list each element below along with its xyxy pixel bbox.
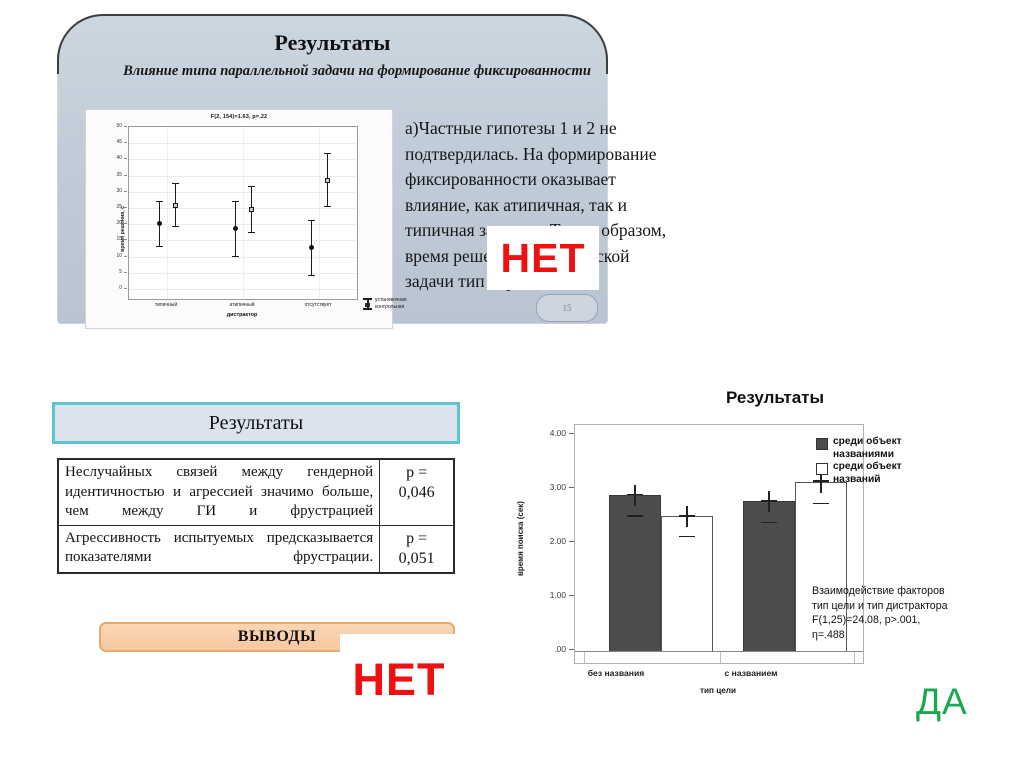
results-table: Неслучайных связей между гендерной идент… <box>57 458 455 574</box>
net-overlay-middle: НЕТ <box>340 634 458 706</box>
slide-top-subtitle: Влияние типа параллельной задачи на форм… <box>122 62 592 81</box>
br-stats-annotation: Взаимодействие факторов тип цели и тип д… <box>812 584 982 642</box>
top-chart-xtick: типичный <box>138 302 194 308</box>
top-chart-panel: F(2, 154)=1.63, p=.22 время решения, с 5… <box>86 110 392 328</box>
br-stats-line3: F(1,25)=24.08, p>.001, <box>812 613 982 628</box>
table-cell-text: Неслучайных связей между гендерной идент… <box>58 459 380 525</box>
vyvody-button-label: ВЫВОДЫ <box>238 628 316 646</box>
br-chart-legend: среди объект названиями среди объект наз… <box>816 437 936 487</box>
top-chart-ytick: 40 <box>102 155 122 161</box>
data-point <box>325 178 330 183</box>
bar-dark-1 <box>609 495 661 652</box>
top-chart-ytick: 35 <box>102 172 122 178</box>
top-chart-ytick: 25 <box>102 204 122 210</box>
top-chart-ytick: 5 <box>102 269 122 275</box>
data-point <box>309 245 314 250</box>
data-point <box>249 207 254 212</box>
slide-bottom-right: Результаты Диаграмма 1. Время поиска цел… <box>530 388 970 698</box>
legend-item: среди объект названиями <box>816 437 936 462</box>
data-point <box>157 221 162 226</box>
br-chart-ytick: 3.00 <box>536 482 566 492</box>
slide-mid-header-box: Результаты <box>52 402 460 444</box>
br-chart-ytick: 1.00 <box>536 590 566 600</box>
top-chart-ytick: 20 <box>102 220 122 226</box>
slide-collage-canvas: Результаты Влияние типа параллельной зад… <box>0 0 1024 767</box>
top-chart-xtick: отсутствует <box>290 302 346 308</box>
top-chart-ytick: 50 <box>102 123 122 129</box>
slide-mid-header-text: Результаты <box>209 412 303 435</box>
errorbar-legend-icon <box>363 298 372 310</box>
br-chart-ytick: 2.00 <box>536 536 566 546</box>
br-stats-line1: Взаимодействие факторов <box>812 584 982 599</box>
br-chart-xlabel: тип цели <box>574 686 862 695</box>
table-cell-pvalue: p = 0,046 <box>380 459 454 525</box>
top-chart-xtick: атипичный <box>214 302 270 308</box>
slide-middle-left: Результаты Неслучайных связей между генд… <box>48 398 464 666</box>
legend-label-line1: среди объект <box>833 436 937 449</box>
da-overlay-text: ДА <box>916 683 968 720</box>
legend-label-line2: названий <box>833 474 937 487</box>
data-point <box>173 203 178 208</box>
slide-br-title: Результаты <box>650 388 900 408</box>
br-chart-xtick: без названия <box>561 668 671 678</box>
br-chart-xtick: с названием <box>696 668 806 678</box>
top-chart-ytick: 45 <box>102 139 122 145</box>
slide-top-title: Результаты <box>57 30 608 56</box>
br-stats-line4: η=.488 <box>812 628 982 643</box>
data-point <box>233 226 238 231</box>
pvalue-line-1: p = <box>386 529 447 549</box>
top-chart-ylabel: время решения, с <box>120 206 126 252</box>
pvalue-line-2: 0,046 <box>386 483 447 503</box>
legend-label-line1: среди объект <box>833 461 937 474</box>
pvalue-line-1: p = <box>386 463 447 483</box>
net-overlay-top-text: НЕТ <box>501 238 586 279</box>
br-chart-ytick: .00 <box>536 644 566 654</box>
slide-top-ghost-shape: 15 <box>536 294 598 322</box>
top-chart-ytick: 30 <box>102 188 122 194</box>
table-row: Агрессивность испытуемых предсказывается… <box>58 525 454 573</box>
bar-dark-2 <box>743 501 795 652</box>
legend-label-line2: названиями <box>833 449 937 462</box>
net-overlay-top: НЕТ <box>487 226 599 290</box>
legend-swatch-dark-icon <box>816 438 828 450</box>
table-cell-text: Агрессивность испытуемых предсказывается… <box>58 525 380 573</box>
table-cell-pvalue: p = 0,051 <box>380 525 454 573</box>
br-chart-ylabel: время поиска (сек) <box>516 501 525 576</box>
top-legend-label-2: контрольная <box>375 304 404 311</box>
top-chart-xlabel: дистрактор <box>128 312 356 318</box>
top-chart-title: F(2, 154)=1.63, p=.22 <box>86 114 392 120</box>
top-chart-ytick: 10 <box>102 253 122 259</box>
br-stats-line2: тип цели и тип дистрактора <box>812 599 982 614</box>
net-overlay-middle-text: НЕТ <box>353 657 446 706</box>
top-chart-plot-area <box>128 126 358 300</box>
legend-swatch-light-icon <box>816 463 828 475</box>
top-chart-ytick: 0 <box>102 285 122 291</box>
legend-item: среди объект названий <box>816 462 936 487</box>
table-row: Неслучайных связей между гендерной идент… <box>58 459 454 525</box>
top-chart-legend: установочная контрольная <box>363 296 419 313</box>
top-chart-ytick: 15 <box>102 236 122 242</box>
pvalue-line-2: 0,051 <box>386 549 447 569</box>
br-chart-ytick: 4.00 <box>536 428 566 438</box>
